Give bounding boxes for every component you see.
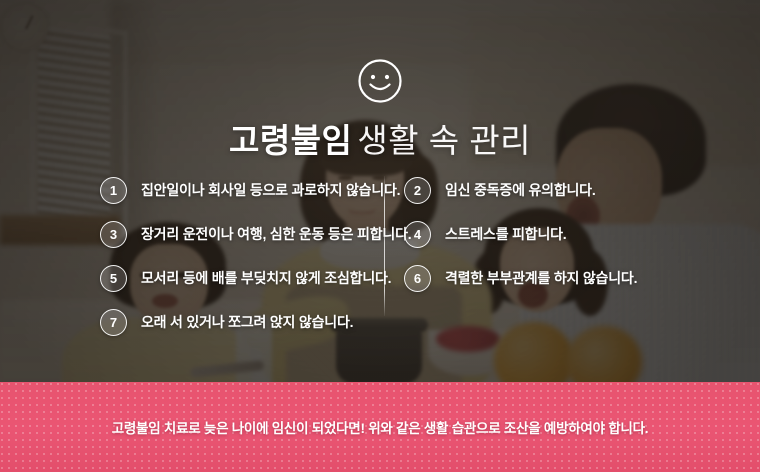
page-title: 고령불임생활 속 관리 <box>0 120 760 162</box>
list-item: 5 모서리 등에 배를 부딪치지 않게 조심합니다. <box>100 256 380 300</box>
tips-list: 1 집안일이나 회사일 등으로 과로하지 않습니다. 3 장거리 운전이나 여행… <box>0 168 760 333</box>
bottom-banner: 고령불임 치료로 늦은 나이에 임신이 되었다면! 위와 같은 생활 습관으로 … <box>0 382 760 472</box>
tips-column-left: 1 집안일이나 회사일 등으로 과로하지 않습니다. 3 장거리 운전이나 여행… <box>100 168 380 344</box>
tip-text: 임신 중독증에 유의합니다. <box>445 180 596 200</box>
page-title-light: 생활 속 관리 <box>357 122 531 159</box>
tip-text: 스트레스를 피합니다. <box>445 224 567 244</box>
tip-text: 모서리 등에 배를 부딪치지 않게 조심합니다. <box>141 268 391 288</box>
tips-column-right: 2 임신 중독증에 유의합니다. 4 스트레스를 피합니다. 6 격렬한 부부관… <box>404 168 674 300</box>
smiley-face-icon <box>357 58 403 104</box>
content-layer: 고령불임생활 속 관리 1 집안일이나 회사일 등으로 과로하지 않습니다. 3… <box>0 0 760 472</box>
list-item: 2 임신 중독증에 유의합니다. <box>404 168 674 212</box>
list-item: 6 격렬한 부부관계를 하지 않습니다. <box>404 256 674 300</box>
page-title-strong: 고령불임 <box>229 122 352 159</box>
tip-text: 장거리 운전이나 여행, 심한 운동 등은 피합니다. <box>141 224 411 244</box>
tip-number-badge: 2 <box>404 177 431 204</box>
tip-number-badge: 1 <box>100 177 127 204</box>
tip-number-badge: 3 <box>100 221 127 248</box>
tip-number-badge: 4 <box>404 221 431 248</box>
list-item: 4 스트레스를 피합니다. <box>404 212 674 256</box>
tip-number-badge: 7 <box>100 309 127 336</box>
list-item: 3 장거리 운전이나 여행, 심한 운동 등은 피합니다. <box>100 212 380 256</box>
tip-number-badge: 5 <box>100 265 127 292</box>
infographic-canvas: 고령불임생활 속 관리 1 집안일이나 회사일 등으로 과로하지 않습니다. 3… <box>0 0 760 472</box>
list-item: 7 오래 서 있거나 쪼그려 앉지 않습니다. <box>100 300 380 344</box>
tip-text: 오래 서 있거나 쪼그려 앉지 않습니다. <box>141 312 353 332</box>
list-item: 1 집안일이나 회사일 등으로 과로하지 않습니다. <box>100 168 380 212</box>
bottom-banner-text: 고령불임 치료로 늦은 나이에 임신이 되었다면! 위와 같은 생활 습관으로 … <box>112 417 649 437</box>
tip-number-badge: 6 <box>404 265 431 292</box>
tip-text: 집안일이나 회사일 등으로 과로하지 않습니다. <box>141 180 400 200</box>
tip-text: 격렬한 부부관계를 하지 않습니다. <box>445 268 637 288</box>
